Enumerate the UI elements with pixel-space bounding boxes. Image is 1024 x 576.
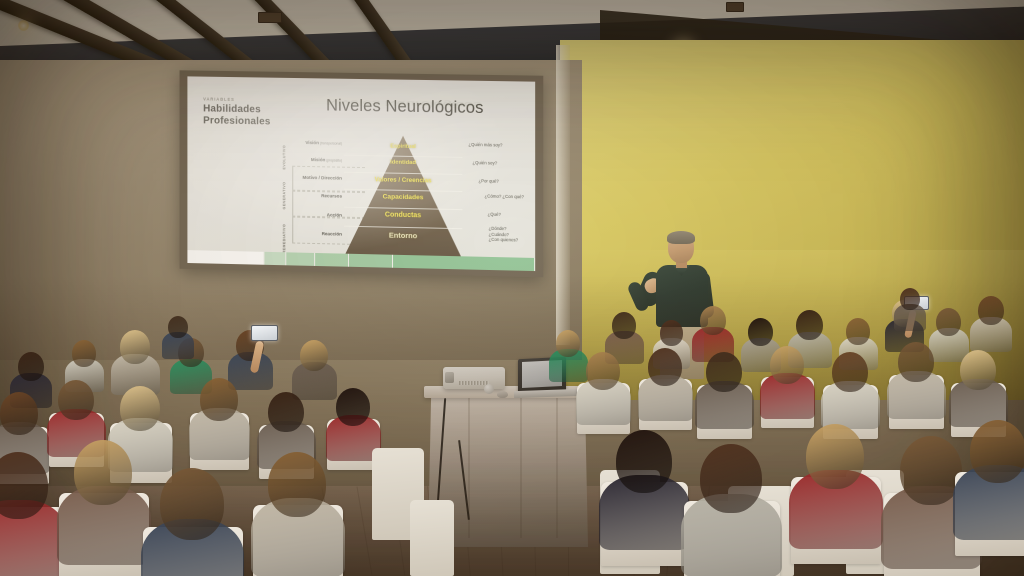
audience-member xyxy=(556,330,580,380)
audience-member-head xyxy=(160,468,224,540)
pyramid-question-label: ¿Quién soy? xyxy=(472,160,497,166)
microphone xyxy=(484,384,494,394)
ceiling-vent xyxy=(258,12,282,23)
audience-member xyxy=(120,330,150,393)
pyramid-question-label: ¿Por qué? xyxy=(479,178,499,184)
audience-member xyxy=(832,352,868,428)
audience-member xyxy=(168,316,188,358)
audience-member xyxy=(200,378,238,458)
audience-member-head xyxy=(58,380,94,420)
wall-corner-edge xyxy=(556,45,570,345)
audience-member xyxy=(616,430,672,548)
audience-member xyxy=(970,420,1024,538)
audience-member xyxy=(700,444,762,574)
slide-footer-segment xyxy=(264,252,286,265)
pyramid-left-label: Acción xyxy=(327,212,342,217)
audience-member-head xyxy=(978,296,1004,325)
audience-member-head xyxy=(970,420,1024,483)
audience-member xyxy=(706,352,742,428)
audience-member xyxy=(648,348,682,419)
pyramid-left-label-qualifier: (propósito) xyxy=(325,158,342,162)
audience-member-head xyxy=(336,388,370,426)
pyramid-side-group-label: GENERATIVO xyxy=(282,172,286,210)
pyramid-diagram: EVOLUTIVOGENERATIVOREMEDIATIVO Visión (t… xyxy=(282,132,533,269)
pyramid-question-label: ¿Quién más soy? xyxy=(468,142,502,148)
audience-member xyxy=(770,346,804,417)
audience-member-head xyxy=(700,444,762,513)
audience-member-head xyxy=(74,440,132,505)
slide-subtitle-line1: Habilidades xyxy=(203,103,261,115)
audience-member-head xyxy=(660,320,683,346)
slide-footer-segment xyxy=(315,253,349,267)
audience-member xyxy=(336,388,370,459)
audience-member-head xyxy=(168,316,188,338)
audience-member-head xyxy=(706,352,742,392)
audience-member-head xyxy=(898,342,934,382)
pyramid-question-label: ¿Qué? xyxy=(488,212,501,218)
slide-footer-segment xyxy=(393,255,535,271)
audience-member-head xyxy=(770,346,804,384)
pyramid-left-label-main: Reacción xyxy=(322,231,342,236)
slide-title: Niveles Neurológicos xyxy=(326,96,483,118)
slide-footer-segment xyxy=(287,252,315,266)
audience-member-head xyxy=(796,310,823,340)
audience-member xyxy=(960,350,996,426)
audience-member-head xyxy=(268,392,304,432)
audience-member-head xyxy=(616,430,672,493)
pyramid-left-label: Reacción xyxy=(322,231,342,236)
slide-eyebrow: VARIABLES xyxy=(203,96,235,101)
audience-member xyxy=(300,340,328,399)
audience-member xyxy=(978,296,1004,351)
drape-fold xyxy=(520,398,522,538)
pyramid-side-group-label: EVOLUTIVO xyxy=(282,136,286,170)
drape-fold xyxy=(556,398,558,538)
projection-screen: VARIABLES Habilidades Profesionales Nive… xyxy=(180,70,544,277)
audience-member-head xyxy=(268,452,326,517)
pyramid-left-label: Recursos xyxy=(321,193,342,198)
pyramid-left-label-main: Recursos xyxy=(321,193,342,198)
audience-member-head xyxy=(556,330,580,357)
pyramid-left-label-main: Visión xyxy=(305,140,319,145)
audience-member-head xyxy=(700,306,726,335)
slide-footer-segment xyxy=(187,250,264,265)
pyramid-left-label-main: Motivo / Dirección xyxy=(303,175,342,181)
slide-footer-segment xyxy=(349,254,393,268)
chair-cover xyxy=(410,500,454,576)
audience-member-head xyxy=(832,352,868,392)
slide: VARIABLES Habilidades Profesionales Nive… xyxy=(187,76,535,271)
audience-member-head xyxy=(936,308,961,336)
audience-member-head xyxy=(18,352,44,381)
audience-member-head xyxy=(806,424,864,489)
audience-member-head xyxy=(120,386,160,431)
audience-member xyxy=(586,352,620,423)
pyramid-shape: EspiritualIdentidadValores / CreenciasCa… xyxy=(344,135,462,260)
ceiling-vent xyxy=(726,2,744,12)
presenter-hair xyxy=(667,231,695,244)
audience-member-head xyxy=(612,312,636,339)
audience-member-head xyxy=(0,392,38,435)
pyramid-question-label: ¿Dónde? ¿Cuándo? ¿Con quienes? xyxy=(489,226,518,243)
audience-member xyxy=(236,330,264,389)
audience-member xyxy=(898,342,934,418)
audience-member xyxy=(806,424,864,546)
floor-tile-line xyxy=(357,487,373,576)
smartphone[interactable] xyxy=(251,325,279,341)
presentation-photo-scene: VARIABLES Habilidades Profesionales Nive… xyxy=(0,0,1024,576)
audience-member xyxy=(936,308,961,361)
audience-member-head xyxy=(900,288,920,310)
audience-member-head xyxy=(586,352,620,390)
audience-member-head xyxy=(648,348,682,386)
projector-vent xyxy=(459,381,489,385)
pyramid-left-label-qualifier: (transpersonal) xyxy=(319,141,342,145)
audience-member-head xyxy=(300,340,328,371)
audience-member-head xyxy=(846,318,870,345)
ceiling-lamp xyxy=(18,20,29,31)
pyramid-left-label: Motivo / Dirección xyxy=(303,175,342,181)
audience-member-head xyxy=(200,378,238,421)
audience-member-head xyxy=(960,350,996,390)
pyramid-left-label: Visión (transpersonal) xyxy=(305,140,342,146)
pyramid-side-group-label: REMEDIATIVO xyxy=(282,211,286,253)
slide-subtitle-line2: Profesionales xyxy=(203,115,270,127)
audience-member-head xyxy=(72,340,96,367)
audience-member xyxy=(268,452,326,574)
audience-member xyxy=(160,468,224,576)
audience-member xyxy=(900,288,920,330)
pyramid-left-label-main: Acción xyxy=(327,212,342,217)
projector-lens xyxy=(445,372,454,383)
pyramid-body xyxy=(344,135,462,260)
audience-member-head xyxy=(748,318,773,346)
audience-member xyxy=(74,440,132,562)
pyramid-question-label: ¿Cómo? ¿Con qué? xyxy=(485,193,524,199)
audience-member xyxy=(0,452,48,576)
pyramid-left-label: Misión (propósito) xyxy=(311,157,342,163)
projector xyxy=(443,367,505,389)
mouse xyxy=(497,391,508,398)
audience-member-head xyxy=(120,330,150,364)
pyramid-left-label-main: Misión xyxy=(311,157,325,162)
